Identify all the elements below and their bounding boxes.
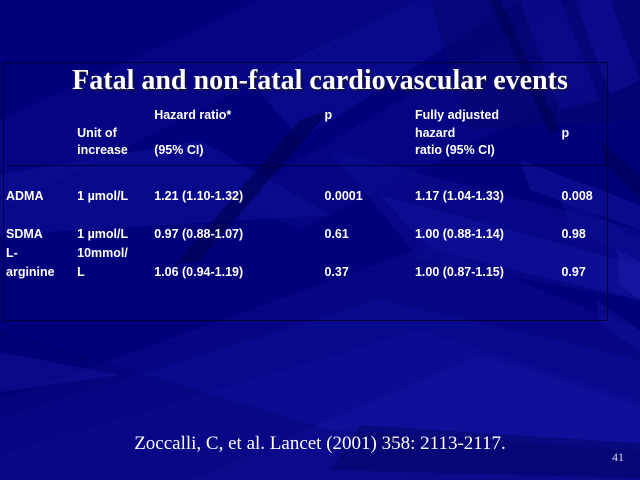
row-adjusted xyxy=(409,246,561,265)
header-cell-hazard: Hazard ratio* xyxy=(154,108,324,126)
row-label: SDMA xyxy=(6,227,77,246)
row-label: arginine xyxy=(6,265,77,284)
row-unit: L xyxy=(77,265,154,284)
row-p-value: 0.37 xyxy=(324,265,409,284)
row-unit: 10mmol/ xyxy=(77,246,154,265)
table-header-row: Unit of hazard p xyxy=(6,126,606,143)
table-row: ADMA 1 µmol/L 1.21 (1.10-1.32) 0.0001 1.… xyxy=(6,189,606,227)
header-cell-p2: p xyxy=(561,126,606,143)
header-cell-label xyxy=(6,126,77,143)
row-p-value: 0.0001 xyxy=(324,189,409,227)
header-cell-p2 xyxy=(561,143,606,164)
row-label: L- xyxy=(6,246,77,265)
results-table: Hazard ratio* p Fully adjusted Unit of h… xyxy=(6,108,606,284)
header-cell-unit: increase xyxy=(77,143,154,164)
row-adjusted: 1.00 (0.88-1.14) xyxy=(409,227,561,246)
row-hazard: 0.97 (0.88-1.07) xyxy=(154,227,324,246)
row-hazard: 1.06 (0.94-1.19) xyxy=(154,265,324,284)
presentation-slide: Fatal and non-fatal cardiovascular event… xyxy=(0,0,640,480)
table-header-row: increase (95% CI) ratio (95% CI) xyxy=(6,143,606,164)
source-citation: Zoccalli, C, et al. Lancet (2001) 358: 2… xyxy=(0,432,640,456)
row-p-value-adjusted xyxy=(561,246,606,265)
table-header-row: Hazard ratio* p Fully adjusted xyxy=(6,108,606,126)
slide-number: 41 xyxy=(612,450,624,464)
row-p-value xyxy=(324,246,409,265)
table-row: SDMA 1 µmol/L 0.97 (0.88-1.07) 0.61 1.00… xyxy=(6,227,606,246)
header-cell-p1 xyxy=(324,143,409,164)
row-p-value: 0.61 xyxy=(324,227,409,246)
row-hazard: 1.21 (1.10-1.32) xyxy=(154,189,324,227)
header-cell-p2 xyxy=(561,108,606,126)
row-adjusted: 1.17 (1.04-1.33) xyxy=(409,189,561,227)
row-p-value-adjusted: 0.008 xyxy=(561,189,606,227)
table-row: L- 10mmol/ xyxy=(6,246,606,265)
header-cell-hazard xyxy=(154,126,324,143)
table-row: arginine L 1.06 (0.94-1.19) 0.37 1.00 (0… xyxy=(6,265,606,284)
row-unit: 1 µmol/L xyxy=(77,227,154,246)
header-cell-label xyxy=(6,143,77,164)
header-cell-label xyxy=(6,108,77,126)
table-spacer-row xyxy=(6,166,606,190)
header-cell-unit xyxy=(77,108,154,126)
row-adjusted: 1.00 (0.87-1.15) xyxy=(409,265,561,284)
header-cell-unit: Unit of xyxy=(77,126,154,143)
row-unit: 1 µmol/L xyxy=(77,189,154,227)
row-hazard xyxy=(154,246,324,265)
page-title: Fatal and non-fatal cardiovascular event… xyxy=(0,64,640,98)
header-cell-hazard: (95% CI) xyxy=(154,143,324,164)
row-label: ADMA xyxy=(6,189,77,227)
header-cell-adj: Fully adjusted xyxy=(409,108,561,126)
table-spacer-cell xyxy=(6,166,606,190)
header-cell-p1 xyxy=(324,126,409,143)
header-cell-p1: p xyxy=(324,108,409,126)
row-p-value-adjusted: 0.98 xyxy=(561,227,606,246)
header-cell-adj: ratio (95% CI) xyxy=(409,143,561,164)
header-cell-adj: hazard xyxy=(409,126,561,143)
row-p-value-adjusted: 0.97 xyxy=(561,265,606,284)
